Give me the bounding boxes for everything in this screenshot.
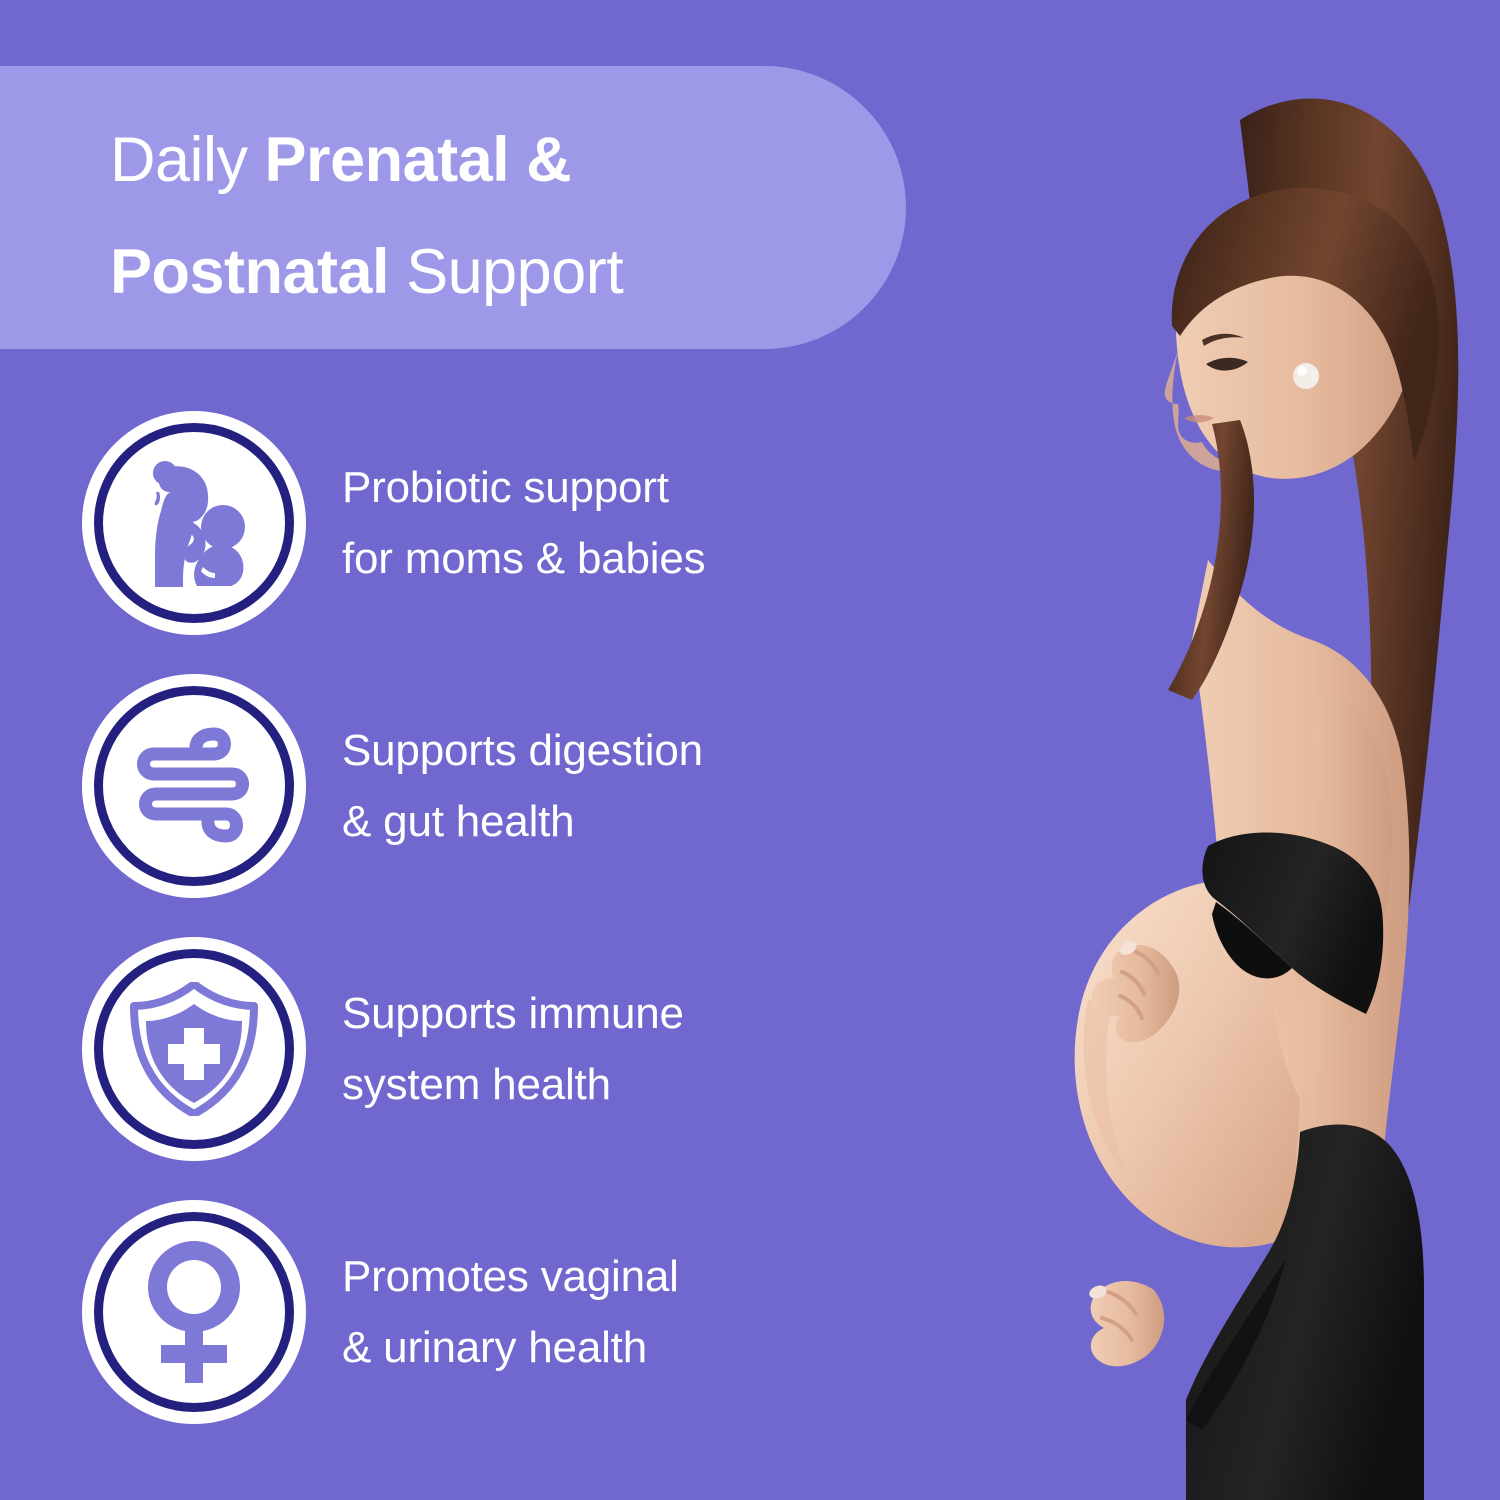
female-venus-symbol-icon — [140, 1241, 248, 1383]
headline-prenatal: Prenatal & — [265, 125, 572, 195]
feature-text-line-2: for moms & babies — [342, 523, 705, 594]
feature-list: Probiotic support for moms & babies — [0, 417, 900, 1417]
feature-item-digestion-support: Supports digestion & gut health — [0, 680, 900, 891]
headline-daily: Daily — [110, 125, 265, 195]
headline-postnatal: Postnatal — [110, 237, 389, 307]
feature-text: Supports immune system health — [342, 978, 684, 1120]
intestine-icon — [128, 724, 260, 848]
feature-item-immune-support: Supports immune system health — [0, 943, 900, 1154]
feature-item-probiotic-support: Probiotic support for moms & babies — [0, 417, 900, 628]
feature-text-line-1: Supports digestion — [342, 715, 703, 786]
headline-line-1: Daily Prenatal & — [110, 104, 870, 216]
pregnant-woman-profile-photo — [940, 0, 1500, 1500]
feature-text: Promotes vaginal & urinary health — [342, 1241, 679, 1383]
feature-text: Supports digestion & gut health — [342, 715, 703, 857]
feature-text-line-1: Probiotic support — [342, 452, 705, 523]
product-feature-graphic: Daily Prenatal & Postnatal Support — [0, 0, 1500, 1500]
icon-badge — [88, 1206, 300, 1418]
icon-badge — [88, 417, 300, 629]
headline-support: Support — [389, 237, 623, 307]
icon-badge — [88, 680, 300, 892]
mother-and-baby-icon — [135, 459, 253, 587]
feature-text-line-1: Supports immune — [342, 978, 684, 1049]
feature-item-vaginal-urinary-health: Promotes vaginal & urinary health — [0, 1206, 900, 1417]
feature-text: Probiotic support for moms & babies — [342, 452, 705, 594]
headline-line-2: Postnatal Support — [110, 216, 870, 328]
feature-text-line-2: system health — [342, 1049, 684, 1120]
shield-cross-icon — [130, 982, 258, 1116]
feature-text-line-2: & gut health — [342, 786, 703, 857]
page-title: Daily Prenatal & Postnatal Support — [110, 104, 870, 328]
icon-badge — [88, 943, 300, 1155]
feature-text-line-1: Promotes vaginal — [342, 1241, 679, 1312]
feature-text-line-2: & urinary health — [342, 1312, 679, 1383]
